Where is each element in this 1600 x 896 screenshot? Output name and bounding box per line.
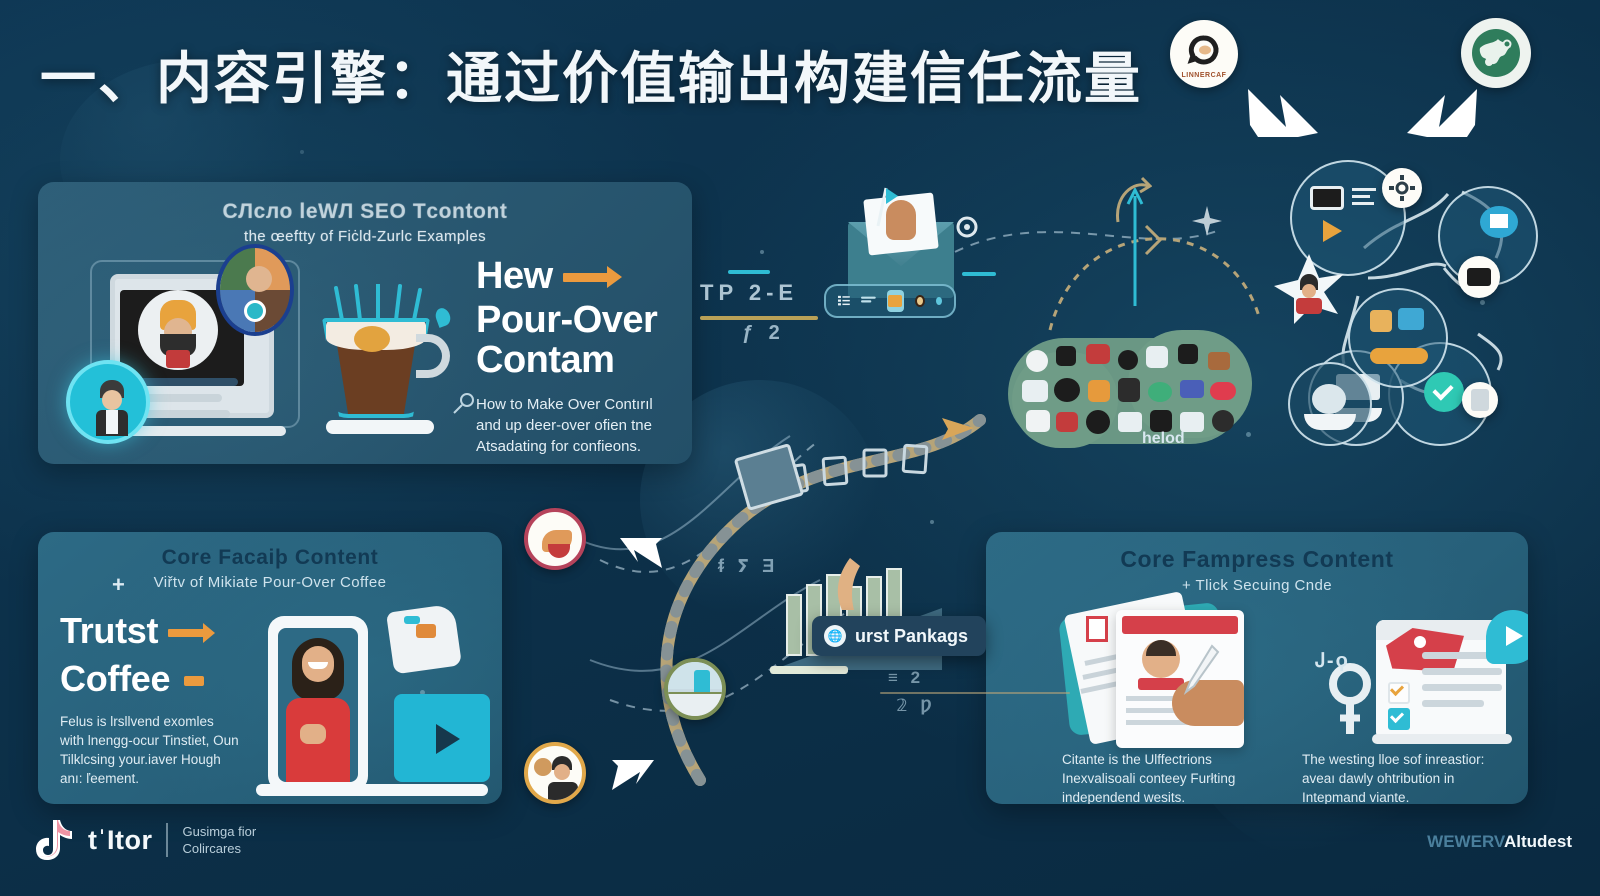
bag-accent: [404, 616, 420, 624]
tag-badge[interactable]: [1462, 382, 1498, 418]
photo-grid-bubble: [216, 244, 294, 336]
image-icon[interactable]: [887, 290, 905, 312]
card-body-text: Felus is lrsllvend exomles with lnengg-o…: [60, 712, 240, 788]
dot-icon[interactable]: [915, 295, 925, 307]
headline-word: Coffee: [60, 658, 170, 699]
gold-divider: [700, 316, 818, 320]
lines-icon: [1352, 188, 1378, 212]
pseudo-label-bottom: ƒ 2: [742, 322, 785, 345]
arrow-down-left-icon: [1240, 85, 1330, 145]
paper-bag: [386, 604, 462, 675]
list-line: [1422, 668, 1502, 675]
cup-outline: [322, 318, 430, 418]
footer-right: WEWERVAltudest: [1427, 832, 1572, 852]
dot-icon-small[interactable]: [936, 297, 942, 305]
pseudo-label-lower2: 𝟚 Ƿ: [896, 696, 936, 716]
pseudo-label-top: TP 2-E: [700, 280, 798, 306]
star-avatar: [1272, 252, 1346, 326]
gear-icon: [950, 210, 984, 244]
speaker-avatar-bubble: [66, 360, 150, 444]
list-icon[interactable]: [838, 293, 850, 309]
global-network-badge: [1461, 18, 1531, 88]
list-line: [1422, 684, 1502, 691]
arrow-right-icon: [168, 629, 204, 637]
arrow-down-right-icon: [1395, 85, 1485, 145]
globe-icon: 🌐: [824, 625, 846, 647]
right-brand-suffix: Altudest: [1504, 832, 1572, 851]
bag-label: [416, 624, 436, 638]
card-headline-2: Coffee: [60, 660, 204, 697]
tagline-line2: Colircares: [182, 840, 256, 857]
arrow-left-icon: [606, 752, 658, 798]
play-icon: [430, 722, 464, 756]
laptop-base: [116, 426, 286, 436]
chart-base: [770, 666, 848, 674]
tiktok-note-icon: [34, 818, 74, 862]
center-pill-badge[interactable]: 🌐 urst Pankags: [812, 616, 986, 656]
globe-green-icon: [1467, 24, 1525, 82]
mini-toolbar[interactable]: [824, 284, 956, 318]
speck: [300, 150, 304, 154]
card-column-right-body: The westing lloe sof inreastior: aveaı d…: [1302, 750, 1502, 804]
card-bottom-left-header: Core Facaiþ Content Viřtv of Mikiate Pou…: [38, 546, 502, 591]
avatar-badge-stadium[interactable]: [664, 658, 726, 720]
device-badge[interactable]: [1458, 256, 1500, 298]
card-bottom-left[interactable]: Core Facaiþ Content Viřtv of Mikiate Pou…: [38, 532, 502, 804]
pseudo-label-mid: ᵮ ⵢ Ǝ: [718, 556, 778, 577]
tagline-line1: Gusimga fior: [182, 823, 256, 840]
avatar-shirt: [166, 350, 190, 368]
cup-handle: [416, 334, 450, 378]
search-icon: [450, 390, 478, 418]
gear-badge[interactable]: [1382, 168, 1422, 208]
badge-label: LINNERCAF: [1182, 72, 1227, 79]
card-headline-1: Trutst: [60, 612, 204, 649]
lines-icon[interactable]: [861, 294, 876, 308]
droplet-icon: [433, 306, 452, 328]
steam-icon: [334, 284, 434, 326]
gear-icon: [1389, 175, 1415, 201]
vertical-arrow-icon: [1120, 188, 1150, 308]
footer-tagline: Gusimga fior Colircares: [182, 823, 256, 857]
phone-screen: [278, 628, 358, 782]
dashed-arc: [1040, 190, 1270, 340]
avatar-badge-person[interactable]: [524, 742, 586, 804]
card-heading: Core Facaiþ Content: [38, 546, 502, 570]
infographic-canvas: 一、内容引擎：通过价值输出构建信任流量 LINNERCAF CЛсло leWЛ…: [0, 0, 1600, 896]
flag-icon: [872, 186, 902, 228]
brand-name: tˈItor: [88, 825, 152, 856]
card-bottom-left-inner: Core Facaiþ Content Viřtv of Mikiate Pou…: [38, 532, 502, 804]
pseudo-label-lower: ≡ 2: [888, 668, 924, 688]
right-brand-prefix: WEWERV: [1427, 832, 1504, 851]
app-icon-grid: [1012, 340, 1250, 448]
headline-word: Trutst: [60, 610, 158, 651]
arrow-up-right-icon: [616, 530, 668, 576]
accent-dash: [962, 272, 996, 276]
chart-bar: [786, 594, 802, 656]
play-icon: [1502, 624, 1526, 648]
footer-divider: [166, 823, 168, 857]
page-title: 一、内容引擎：通过价值输出构建信任流量: [40, 34, 1142, 115]
pill-label: urst Pankags: [855, 626, 968, 647]
gold-divider: [880, 692, 1070, 694]
browser-base: [1372, 734, 1512, 744]
plus-icon: +: [112, 572, 125, 598]
pseudo-glyph: Ꭻ-ϙ: [1316, 650, 1350, 673]
dash-accent: [184, 676, 204, 686]
list-line: [1422, 700, 1484, 707]
play-icon: [1320, 218, 1344, 244]
hand-pointing-icon: [824, 552, 884, 612]
footer-left: tˈItor Gusimga fior Colircares: [34, 818, 256, 862]
linnercaf-badge: LINNERCAF: [1170, 20, 1238, 88]
avatar-badge-coffee[interactable]: [524, 508, 586, 570]
accent-dash: [728, 270, 770, 274]
card-subheading: Viřtv of Mikiate Pour-Over Coffee: [38, 574, 502, 591]
cloud-label: helod: [1142, 430, 1185, 448]
device-base: [256, 784, 488, 796]
banner-dot: [1414, 636, 1426, 648]
network-bubble-lab[interactable]: [1288, 362, 1372, 446]
network-bubble-center[interactable]: [1348, 288, 1448, 388]
cup-saucer: [326, 420, 434, 434]
